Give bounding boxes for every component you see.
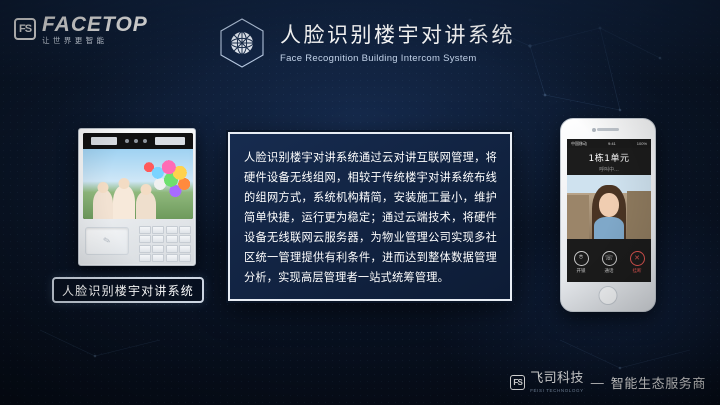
globe-network-icon xyxy=(218,17,266,69)
phone-video-feed xyxy=(567,175,651,239)
brand-mark-icon: FS xyxy=(14,18,36,40)
device-screen-topbar xyxy=(83,133,193,149)
description-text: 人脸识别楼宇对讲系统通过云对讲互联网管理，将硬件设备无线组网，相较于传统楼宇对讲… xyxy=(244,148,497,288)
status-time: 9:41 xyxy=(608,141,616,146)
hangup-icon: ✕ xyxy=(630,251,645,266)
device-screen xyxy=(83,133,193,219)
phone-screen: 中国移动 9:41 100% 1栋1单元 呼叫中... ⌾ 开锁 xyxy=(567,139,651,282)
status-carrier: 中国移动 xyxy=(571,141,587,147)
footer-branding: FS 飞司科技 FEISI TECHNOLOGY — 智能生态服务商 xyxy=(510,372,706,394)
page-title: 人脸识别楼宇对讲系统 xyxy=(280,22,515,48)
device-caption-text: 人脸识别楼宇对讲系统 xyxy=(62,282,194,299)
phone-status-bar: 中国移动 9:41 100% xyxy=(567,139,651,148)
unlock-icon: ⌾ xyxy=(574,251,589,266)
hangup-label: 挂断 xyxy=(633,268,642,274)
phone-call-controls: ⌾ 开锁 ☏ 通话 ✕ 挂断 xyxy=(567,239,651,282)
description-panel: 人脸识别楼宇对讲系统通过云对讲互联网管理，将硬件设备无线组网，相较于传统楼宇对讲… xyxy=(228,132,512,301)
unlock-label: 开锁 xyxy=(577,268,586,274)
phone-speaker xyxy=(597,128,619,131)
footer-mark-icon: FS xyxy=(510,375,525,390)
brand-slogan: 让世界更智能 xyxy=(42,37,148,45)
phone-call-header: 1栋1单元 呼叫中... xyxy=(567,148,651,175)
talk-label: 通话 xyxy=(605,268,614,274)
card-reader-icon: ✎ xyxy=(85,227,129,255)
device-keypad[interactable] xyxy=(139,226,191,262)
device-lower-panel: ✎ xyxy=(79,221,196,266)
talk-button[interactable]: ☏ 通话 xyxy=(597,251,621,274)
device-screen-photo xyxy=(83,149,193,219)
footer-tagline: 智能生态服务商 xyxy=(611,373,706,392)
slide-title-block: 人脸识别楼宇对讲系统 Face Recognition Building Int… xyxy=(218,17,515,69)
call-status-text: 呼叫中... xyxy=(599,166,619,173)
phone-home-button[interactable] xyxy=(599,286,618,305)
footer-company: 飞司科技 xyxy=(530,372,584,385)
phone-camera-icon xyxy=(592,128,596,132)
talk-icon: ☏ xyxy=(602,251,617,266)
footer-company-pinyin: FEISI TECHNOLOGY xyxy=(530,389,584,394)
footer-dash: — xyxy=(591,375,604,390)
slide-canvas: FS FACETOP 让世界更智能 人脸识别楼宇对讲系统 Face Recogn… xyxy=(0,0,720,405)
brand-logo: FS FACETOP 让世界更智能 xyxy=(14,14,148,45)
page-subtitle: Face Recognition Building Intercom Syste… xyxy=(280,53,515,64)
status-battery: 100% xyxy=(637,141,647,146)
hangup-button[interactable]: ✕ 挂断 xyxy=(625,251,649,274)
device-caption-badge: 人脸识别楼宇对讲系统 xyxy=(52,277,204,303)
door-station-device: ✎ xyxy=(78,128,196,266)
unlock-button[interactable]: ⌾ 开锁 xyxy=(569,251,593,274)
call-unit-title: 1栋1单元 xyxy=(589,151,630,164)
smartphone-mockup: 中国移动 9:41 100% 1栋1单元 呼叫中... ⌾ 开锁 xyxy=(560,118,656,312)
brand-name: FACETOP xyxy=(42,14,148,35)
